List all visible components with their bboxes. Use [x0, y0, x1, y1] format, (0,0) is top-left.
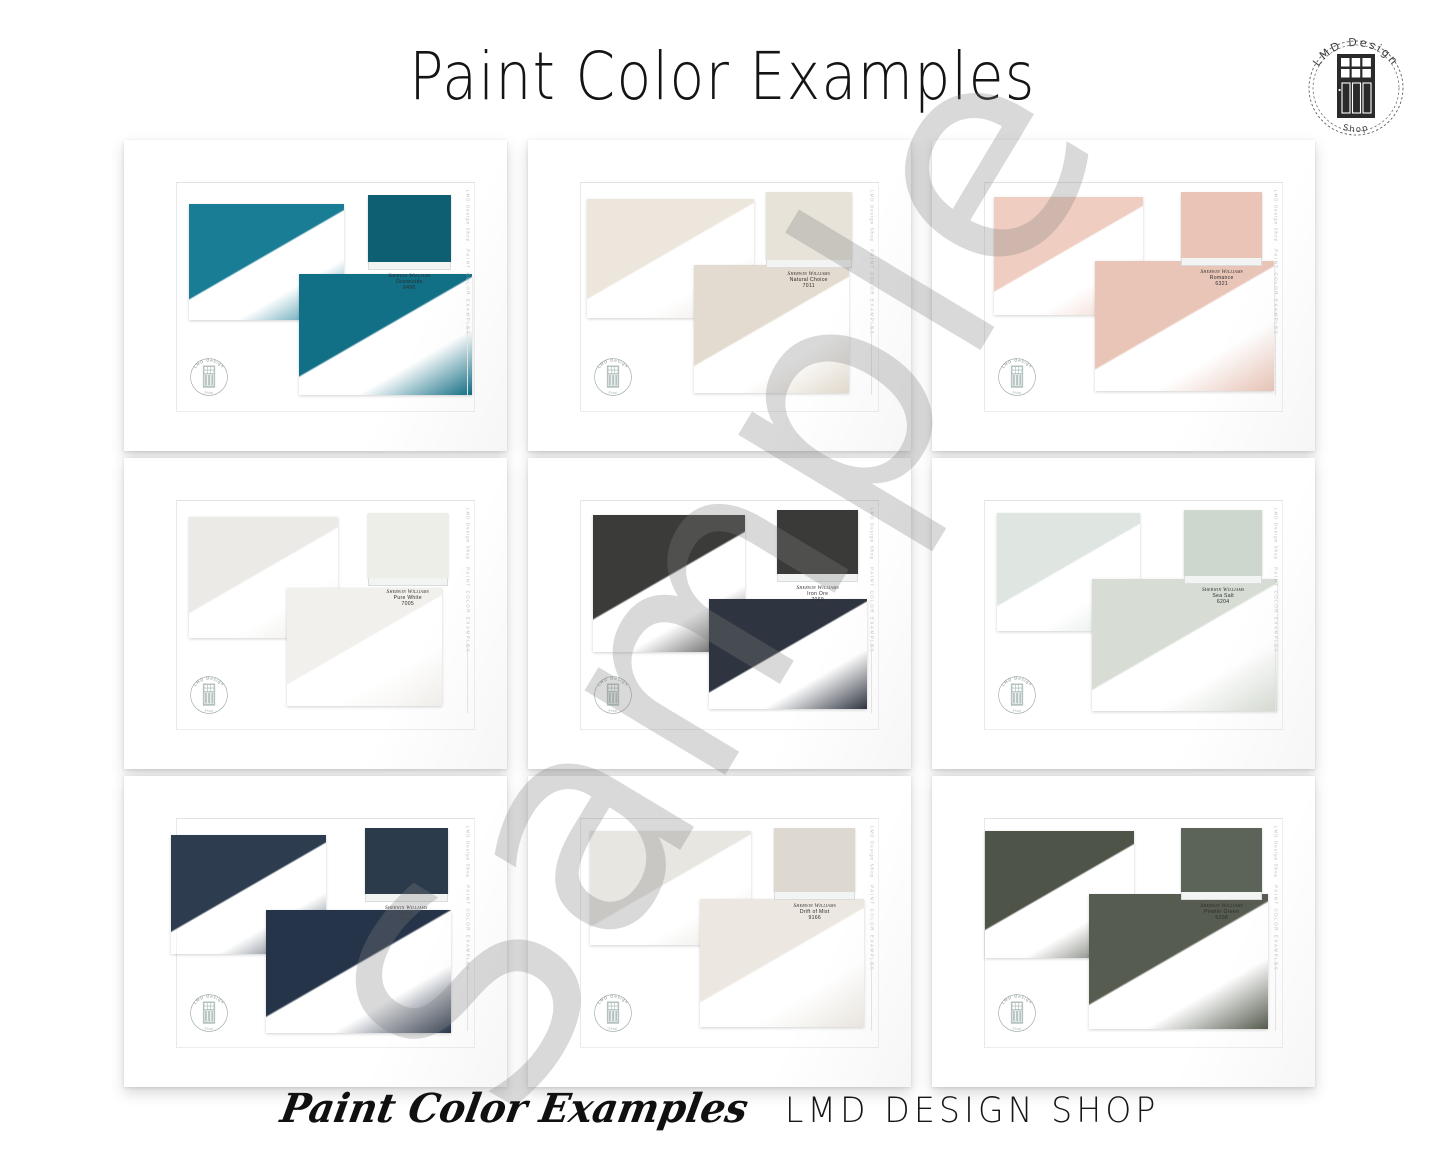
card-sheet: Sherwin Williams Sea Salt 6204 LMD Desig…	[984, 500, 1283, 730]
swatch-color-number: 9166	[774, 915, 854, 921]
swatch-chip	[368, 513, 448, 579]
card-romance[interactable]: Sherwin Williams Romance 6321 LMD Design…	[932, 140, 1315, 451]
swatch-color-number: 6496	[368, 285, 451, 291]
side-text-title: PAINT COLOR EXAMPLES	[869, 567, 874, 653]
paint-swatch[interactable]: Sherwin Williams Iron Ore 7069	[777, 510, 857, 592]
card-pewter-green[interactable]: Sherwin Williams Pewter Green 6208 LMD D…	[932, 776, 1315, 1087]
footer: Paint Color Examples LMD DESIGN SHOP	[0, 1085, 1445, 1132]
side-text-brand: LMD Design Shop	[1273, 826, 1278, 878]
swatch-chip	[1181, 192, 1261, 258]
swatch-color-number: 7005	[368, 601, 448, 607]
svg-text:Shop: Shop	[1342, 123, 1371, 135]
card-side-text: LMD Design Shop PAINT COLOR EXAMPLES	[465, 508, 470, 653]
card-side-rule	[1275, 325, 1276, 395]
swatch-color-number: 7069	[777, 597, 857, 603]
logo-arc-bottom: Shop	[1342, 123, 1371, 135]
side-text-title: PAINT COLOR EXAMPLES	[1273, 885, 1278, 971]
page-title: Paint Color Examples	[101, 38, 1344, 115]
card-side-rule	[871, 961, 872, 1031]
card-sheet: Sherwin Williams Drift of Mist 9166 LMD …	[580, 818, 879, 1048]
swatch-color-number: 6208	[1181, 915, 1261, 921]
swatch-chip-foot	[777, 574, 857, 581]
paint-swatch[interactable]: Sherwin Williams Natural Choice 7011	[766, 192, 852, 279]
side-text-title: PAINT COLOR EXAMPLES	[465, 567, 470, 653]
lmd-mini-logo: LMD Design Shop	[186, 354, 232, 400]
card-sea-salt[interactable]: Sherwin Williams Sea Salt 6204 LMD Desig…	[932, 458, 1315, 769]
card-sheet: Sherwin Williams Iron Ore 7069 LMD Desig…	[580, 500, 879, 730]
side-text-title: PAINT COLOR EXAMPLES	[465, 885, 470, 971]
svg-text:Shop: Shop	[1012, 1026, 1022, 1031]
lmd-mini-logo: LMD Design Shop	[994, 672, 1040, 718]
paint-card-grid: Sherwin Williams Oceanside 6496 LMD Desi…	[124, 140, 1316, 1075]
svg-text:Shop: Shop	[204, 708, 214, 713]
card-iron-ore[interactable]: Sherwin Williams Iron Ore 7069 LMD Desig…	[528, 458, 911, 769]
svg-text:Shop: Shop	[608, 390, 618, 395]
photo-dark-kitchen-cabinets[interactable]	[709, 599, 867, 708]
card-sheet: Sherwin Williams Natural Choice 7011 LMD…	[580, 182, 879, 412]
side-text-title: PAINT COLOR EXAMPLES	[1273, 249, 1278, 335]
lmd-mini-logo: LMD Design Shop	[186, 990, 232, 1036]
side-text-brand: LMD Design Shop	[465, 190, 470, 242]
side-text-title: PAINT COLOR EXAMPLES	[869, 885, 874, 971]
card-side-text: LMD Design Shop PAINT COLOR EXAMPLES	[869, 190, 874, 335]
photo-navy-living-room-green-cabinet[interactable]	[266, 910, 451, 1033]
swatch-chip	[774, 828, 854, 892]
svg-text:Shop: Shop	[204, 1026, 214, 1031]
lmd-mini-logo: LMD Design Shop	[590, 354, 636, 400]
swatch-chip-foot	[365, 894, 448, 902]
svg-text:Shop: Shop	[1012, 708, 1022, 713]
card-side-text: LMD Design Shop PAINT COLOR EXAMPLES	[1273, 826, 1278, 971]
card-drift-of-mist[interactable]: Sherwin Williams Drift of Mist 9166 LMD …	[528, 776, 911, 1087]
photo-teal-bedroom-wide[interactable]	[299, 274, 472, 395]
lmd-mini-logo: LMD Design Shop	[994, 990, 1040, 1036]
card-sheet: Sherwin Williams Romance 6321 LMD Design…	[984, 182, 1283, 412]
card-pure-white[interactable]: Sherwin Williams Pure White 7005 LMD Des…	[124, 458, 507, 769]
swatch-chip-foot	[766, 260, 852, 268]
swatch-chip	[766, 192, 852, 260]
svg-text:Shop: Shop	[608, 1026, 618, 1031]
swatch-chip	[365, 828, 448, 894]
lmd-design-shop-logo: LMD Design Shop	[1296, 28, 1416, 148]
side-text-brand: LMD Design Shop	[465, 508, 470, 560]
card-side-rule	[871, 325, 872, 395]
swatch-chip	[1184, 510, 1262, 576]
swatch-chip-foot	[1181, 258, 1261, 266]
card-oceanside[interactable]: Sherwin Williams Oceanside 6496 LMD Desi…	[124, 140, 507, 451]
card-side-text: LMD Design Shop PAINT COLOR EXAMPLES	[1273, 508, 1278, 653]
swatch-chip-foot	[368, 262, 451, 270]
card-side-text: LMD Design Shop PAINT COLOR EXAMPLES	[465, 826, 470, 971]
side-text-brand: LMD Design Shop	[869, 826, 874, 878]
swatch-chip-foot	[1184, 576, 1262, 584]
door-icon	[1337, 54, 1375, 118]
card-sheet: Sherwin Williams Pewter Green 6208 LMD D…	[984, 818, 1283, 1048]
swatch-color-number: 6244	[365, 917, 448, 923]
paint-swatch[interactable]: Sherwin Williams Oceanside 6496	[368, 195, 451, 282]
footer-script-title: Paint Color Examples	[277, 1085, 752, 1132]
card-sheet: Sherwin Williams Naval 6244 LMD Design S…	[176, 818, 475, 1048]
card-natural-choice[interactable]: Sherwin Williams Natural Choice 7011 LMD…	[528, 140, 911, 451]
side-text-brand: LMD Design Shop	[465, 826, 470, 878]
card-side-rule	[1275, 643, 1276, 713]
swatch-chip-foot	[368, 578, 448, 586]
swatch-chip	[368, 195, 451, 263]
card-naval[interactable]: Sherwin Williams Naval 6244 LMD Design S…	[124, 776, 507, 1087]
card-side-rule	[467, 643, 468, 713]
paint-swatch[interactable]: Sherwin Williams Naval 6244	[365, 828, 448, 912]
card-side-rule	[467, 325, 468, 395]
card-sheet: Sherwin Williams Pure White 7005 LMD Des…	[176, 500, 475, 730]
lmd-mini-logo: LMD Design Shop	[590, 990, 636, 1036]
card-side-rule	[1275, 961, 1276, 1031]
card-side-text: LMD Design Shop PAINT COLOR EXAMPLES	[1273, 190, 1278, 335]
side-text-title: PAINT COLOR EXAMPLES	[465, 249, 470, 335]
card-side-rule	[467, 961, 468, 1031]
svg-text:Shop: Shop	[608, 708, 618, 713]
card-side-text: LMD Design Shop PAINT COLOR EXAMPLES	[869, 826, 874, 971]
swatch-chip	[777, 510, 857, 574]
paint-swatch[interactable]: Sherwin Williams Romance 6321	[1181, 192, 1261, 276]
swatch-chip-foot	[1181, 892, 1261, 899]
side-text-title: PAINT COLOR EXAMPLES	[869, 249, 874, 335]
swatch-color-number: 7011	[766, 283, 852, 289]
card-side-rule	[871, 643, 872, 713]
svg-text:Shop: Shop	[1012, 390, 1022, 395]
side-text-brand: LMD Design Shop	[869, 190, 874, 242]
swatch-color-number: 6204	[1184, 599, 1262, 605]
paint-swatch[interactable]: Sherwin Williams Pewter Green 6208	[1181, 828, 1261, 910]
swatch-color-number: 6321	[1181, 281, 1261, 287]
paint-swatch[interactable]: Sherwin Williams Pure White 7005	[368, 513, 448, 597]
paint-swatch[interactable]: Sherwin Williams Sea Salt 6204	[1184, 510, 1262, 594]
card-side-text: LMD Design Shop PAINT COLOR EXAMPLES	[465, 190, 470, 335]
card-side-text: LMD Design Shop PAINT COLOR EXAMPLES	[869, 508, 874, 653]
footer-shop-name: LMD DESIGN SHOP	[785, 1091, 1160, 1131]
lmd-mini-logo: LMD Design Shop	[590, 672, 636, 718]
side-text-brand: LMD Design Shop	[1273, 508, 1278, 560]
side-text-brand: LMD Design Shop	[1273, 190, 1278, 242]
lmd-mini-logo: LMD Design Shop	[186, 672, 232, 718]
swatch-chip-foot	[774, 892, 854, 899]
swatch-chip	[1181, 828, 1261, 892]
svg-text:Shop: Shop	[204, 390, 214, 395]
card-sheet: Sherwin Williams Oceanside 6496 LMD Desi…	[176, 182, 475, 412]
side-text-title: PAINT COLOR EXAMPLES	[1273, 567, 1278, 653]
paint-swatch[interactable]: Sherwin Williams Drift of Mist 9166	[774, 828, 854, 910]
lmd-mini-logo: LMD Design Shop	[994, 354, 1040, 400]
side-text-brand: LMD Design Shop	[869, 508, 874, 560]
